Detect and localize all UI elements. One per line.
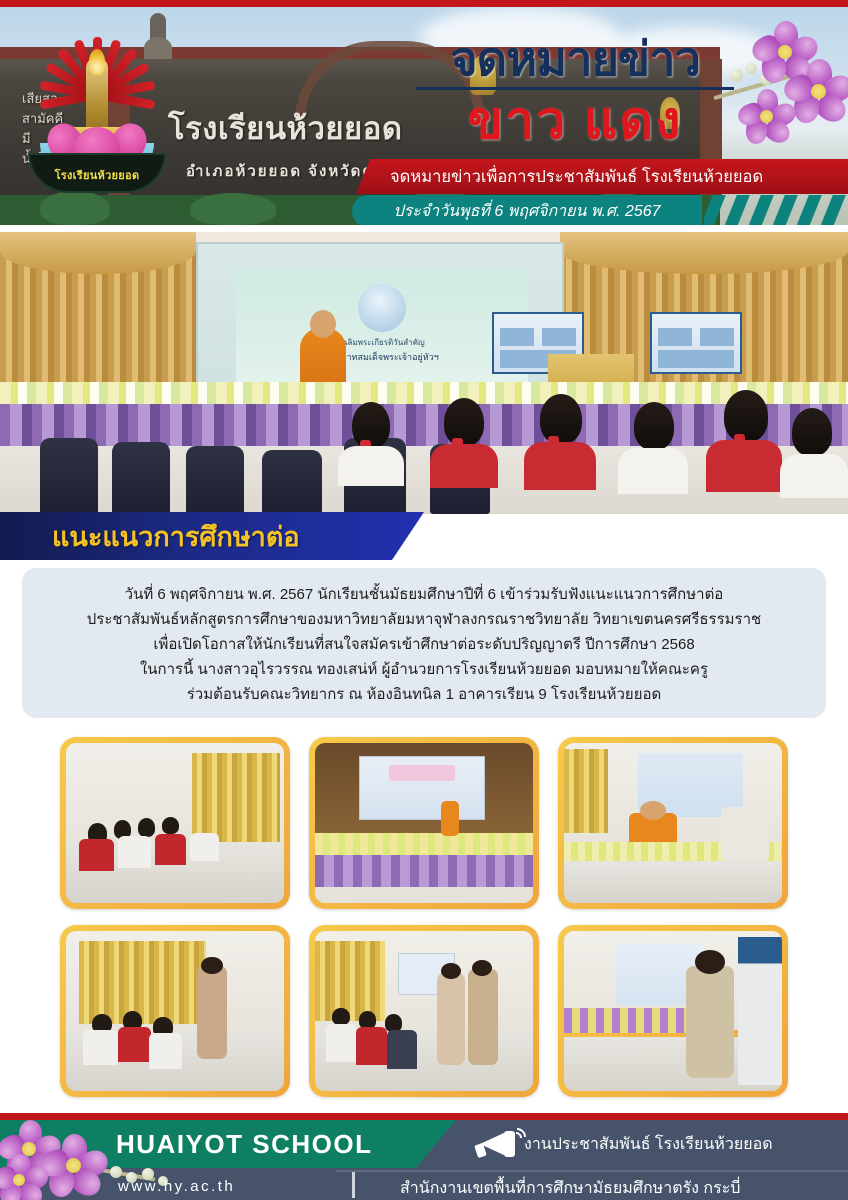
photo-gallery xyxy=(60,737,788,1113)
speaker-head xyxy=(310,310,336,338)
gallery-photo[interactable] xyxy=(60,925,290,1097)
footer-divider-line xyxy=(336,1170,848,1172)
wall-shrub xyxy=(190,193,276,225)
photo-monk-speaking-stage xyxy=(564,743,782,903)
audience-chair xyxy=(112,442,170,514)
student-head xyxy=(724,390,768,442)
gallery-photo[interactable] xyxy=(309,737,539,909)
student-head xyxy=(352,402,390,448)
footer-website[interactable]: www.hy.ac.th xyxy=(118,1178,235,1195)
masthead-headline: จดหมายข่าว ขาว แดง xyxy=(410,32,740,150)
royal-portrait-icon xyxy=(358,284,406,332)
slide-line-1: เฉลิมพระเกียรติวันสำคัญ xyxy=(236,336,528,349)
student-shoulders xyxy=(780,454,848,498)
gallery-photo[interactable] xyxy=(309,925,539,1097)
tagline-ribbon: จดหมายข่าวเพื่อการประชาสัมพันธ์ โรงเรียน… xyxy=(356,159,848,194)
article-line: เพื่อเปิดโอกาสให้นักเรียนที่สนใจสมัครเข้… xyxy=(48,632,800,657)
exhibition-board xyxy=(650,312,742,374)
emblem-ribbon-text: โรงเรียนห้วยยอด xyxy=(30,166,164,184)
tagline-text: จดหมายข่าวเพื่อการประชาสัมพันธ์ โรงเรียน… xyxy=(356,164,763,190)
gallery-row xyxy=(60,925,788,1097)
student-shoulders xyxy=(338,446,404,486)
megaphone-icon xyxy=(470,1130,516,1158)
footer: HUAIYOT SCHOOL xyxy=(0,1120,848,1200)
footer-pr-label: งานประชาสัมพันธ์ โรงเรียนห้วยยอด xyxy=(524,1132,773,1157)
article-line: ประชาสัมพันธ์หลักสูตรการศึกษาของมหาวิทยา… xyxy=(48,607,800,632)
student-shoulders xyxy=(706,440,782,492)
footer-office-name: สำนักงานเขตพื้นที่การศึกษามัธยมศึกษาตรัง… xyxy=(400,1176,740,1200)
section-banner: แนะแนวการศึกษาต่อ xyxy=(0,512,424,560)
student-head xyxy=(540,394,582,444)
flame-icon xyxy=(89,49,105,75)
student-head xyxy=(634,402,674,450)
article-line: ในการนี้ นางสาวอุไรวรรณ ทองเสน่ห์ ผู้อำน… xyxy=(48,657,800,682)
emblem-ribbon: โรงเรียนห้วยยอด xyxy=(28,153,166,193)
student-shoulders xyxy=(618,448,688,494)
photo-students-seated-hall xyxy=(66,743,284,903)
article-line: ร่วมต้อนรับคณะวิทยากร ณ ห้องอินทนิล 1 อา… xyxy=(48,682,800,707)
student-shoulders xyxy=(430,444,498,488)
date-text: ประจำวันพุธที่ 6 พฤศจิกายน พ.ศ. 2567 xyxy=(393,199,660,224)
wall-school-name: โรงเรียนห้วยยอด xyxy=(168,103,402,153)
hero-photo: เฉลิมพระเกียรติวันสำคัญ พระบาทสมเด็จพระเ… xyxy=(0,232,848,514)
section-title: แนะแนวการศึกษาต่อ xyxy=(0,515,300,558)
photo-speaker-beside-display-board xyxy=(564,931,782,1091)
photo-teacher-with-students xyxy=(66,931,284,1091)
headline-primary: จดหมายข่าว xyxy=(410,32,740,86)
student-head xyxy=(792,408,832,456)
school-emblem: โรงเรียนห้วยยอด xyxy=(18,35,176,193)
headline-accent: ขาว แดง xyxy=(410,92,740,150)
footer-red-rule xyxy=(0,1113,848,1120)
audience-chair xyxy=(40,438,98,514)
date-bar: ประจำวันพุธที่ 6 พฤศจิกายน พ.ศ. 2567 xyxy=(352,195,848,225)
flower-decor-top xyxy=(724,11,848,157)
top-red-rule xyxy=(0,0,848,7)
date-pill: ประจำวันพุธที่ 6 พฤศจิกายน พ.ศ. 2567 xyxy=(352,195,702,225)
article-line: วันที่ 6 พฤศจิกายน พ.ศ. 2567 นักเรียนชั้… xyxy=(48,582,800,607)
gallery-photo[interactable] xyxy=(558,925,788,1097)
gallery-photo[interactable] xyxy=(60,737,290,909)
footer-vertical-divider xyxy=(352,1172,355,1198)
slide-line-2: พระบาทสมเด็จพระเจ้าอยู่หัวฯ xyxy=(236,350,528,364)
newsletter-page: เสียสละสามัคคีมีน้ำใจ โรงเรียนห้วยยอด อำ… xyxy=(0,0,848,1200)
diagonal-stripes-decor xyxy=(704,195,848,225)
student-head xyxy=(444,398,484,446)
gallery-row xyxy=(60,737,788,909)
headline-divider xyxy=(416,87,734,90)
masthead: เสียสละสามัคคีมีน้ำใจ โรงเรียนห้วยยอด อำ… xyxy=(0,7,848,225)
gallery-photo[interactable] xyxy=(558,737,788,909)
article-text-card: วันที่ 6 พฤศจิกายน พ.ศ. 2567 นักเรียนชั้… xyxy=(22,568,826,718)
audience-chair xyxy=(186,446,244,514)
photo-guest-speakers-group xyxy=(315,931,533,1091)
photo-stage-screen-purple-drape xyxy=(315,743,533,903)
student-shoulders xyxy=(524,442,596,490)
wall-shrub xyxy=(40,191,110,225)
audience-chair xyxy=(262,450,322,514)
